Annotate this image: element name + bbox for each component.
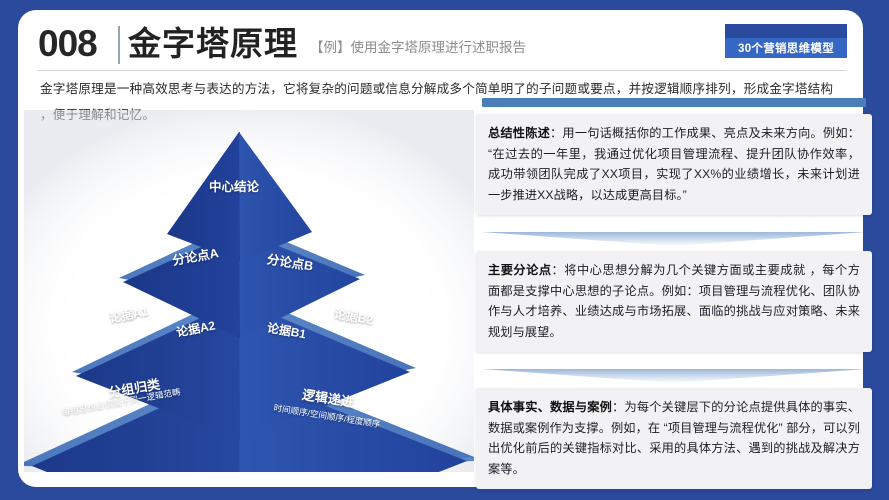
- right-frame-accent-bottom: [871, 352, 889, 500]
- header-rule: [38, 70, 847, 71]
- slide-card: 008 金字塔原理 【例】使用金字塔原理进行述职报告 30个营销思维模型 金字塔…: [18, 10, 863, 487]
- pyramid-diagram: 中心结论 分论点A 分论点B 论据A1 论据A2 论据B1 论据B2 分组归类 …: [24, 110, 474, 472]
- badge-top-bar: [725, 24, 847, 38]
- notes-gap-3: [476, 489, 872, 500]
- slide-header: 008 金字塔原理 【例】使用金字塔原理进行述职报告 30个营销思维模型: [38, 22, 847, 68]
- badge-group: 30个营销思维模型: [725, 24, 847, 58]
- slide-number: 008: [38, 22, 97, 66]
- right-frame-accent-top: [871, 0, 889, 110]
- note-summary: 总结性陈述：用一句话概括你的工作成果、亮点及未来方向。例如： “在过去的一年里，…: [476, 114, 872, 215]
- note-subpoints: 主要分论点：将中心思想分解为几个关键方面或主要成就 ，每个方面都是支撑中心思想的…: [476, 251, 872, 352]
- note-facts-lead: 具体事实、数据与案例: [488, 400, 612, 414]
- accent-bar-top: [482, 98, 866, 107]
- page-title: 金字塔原理: [128, 22, 298, 66]
- notes-gap-1: [476, 215, 872, 229]
- note-subpoints-lead: 主要分论点: [488, 263, 552, 277]
- note-divider-1: [482, 232, 866, 246]
- pyramid-svg: [24, 110, 474, 472]
- slide-root: 008 金字塔原理 【例】使用金字塔原理进行述职报告 30个营销思维模型 金字塔…: [0, 0, 889, 500]
- note-summary-lead: 总结性陈述: [488, 126, 550, 140]
- series-badge: 30个营销思维模型: [725, 38, 847, 58]
- notes-rail: 总结性陈述：用一句话概括你的工作成果、亮点及未来方向。例如： “在过去的一年里，…: [476, 98, 872, 500]
- note-divider-2: [482, 369, 866, 383]
- page-subtitle: 【例】使用金字塔原理进行述职报告: [310, 34, 526, 62]
- note-facts: 具体事实、数据与案例：为每个关键层下的分论点提供具体的事实、数据或案例作为支撑。…: [476, 388, 872, 489]
- notes-gap-2: [476, 352, 872, 366]
- header-divider: [118, 26, 120, 64]
